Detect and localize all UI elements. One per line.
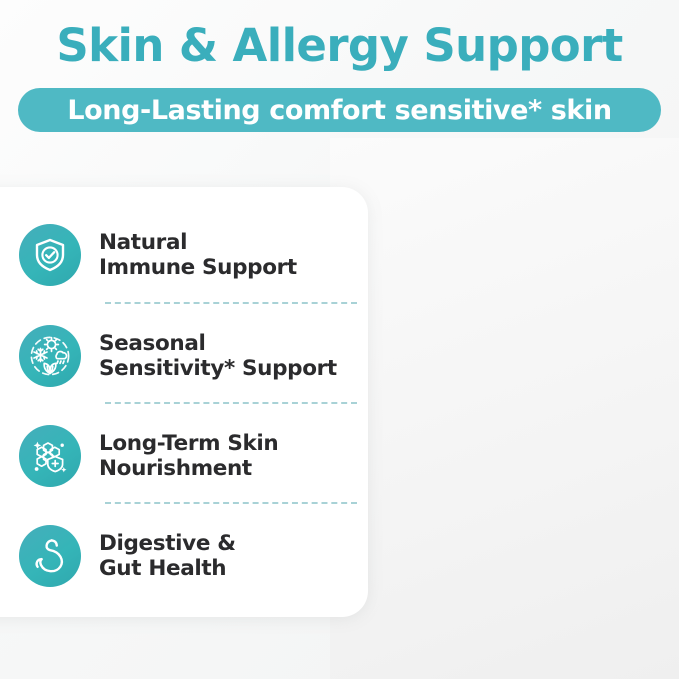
feature-label: Digestive & Gut Health (99, 531, 236, 581)
page-title: Skin & Allergy Support (0, 18, 679, 74)
feature-label: Natural Immune Support (99, 230, 297, 280)
skin-cells-shield-icon (19, 425, 81, 487)
product-infographic: Skin & Allergy Support Long-Lasting comf… (0, 0, 679, 679)
border-collie-dog-photo (330, 138, 679, 679)
feature-label: Long-Term Skin Nourishment (99, 431, 278, 481)
stomach-icon (19, 525, 81, 587)
feature-label: Seasonal Sensitivity* Support (99, 331, 337, 381)
feature-divider (105, 302, 357, 304)
feature-item-natural-immune-support[interactable]: Natural Immune Support (19, 224, 364, 286)
feature-list: Natural Immune Support (0, 187, 380, 617)
shield-check-icon (19, 224, 81, 286)
subtitle-banner: Long-Lasting comfort sensitive* skin (18, 88, 661, 132)
feature-item-digestive-gut-health[interactable]: Digestive & Gut Health (19, 525, 364, 587)
photo-background (330, 138, 679, 679)
subtitle-text: Long-Lasting comfort sensitive* skin (67, 95, 611, 126)
feature-item-seasonal-sensitivity-support[interactable]: Seasonal Sensitivity* Support (19, 325, 364, 387)
feature-divider (105, 402, 357, 404)
seasonal-weather-icon (19, 325, 81, 387)
feature-item-long-term-skin-nourishment[interactable]: Long-Term Skin Nourishment (19, 425, 364, 487)
feature-divider (105, 502, 357, 504)
